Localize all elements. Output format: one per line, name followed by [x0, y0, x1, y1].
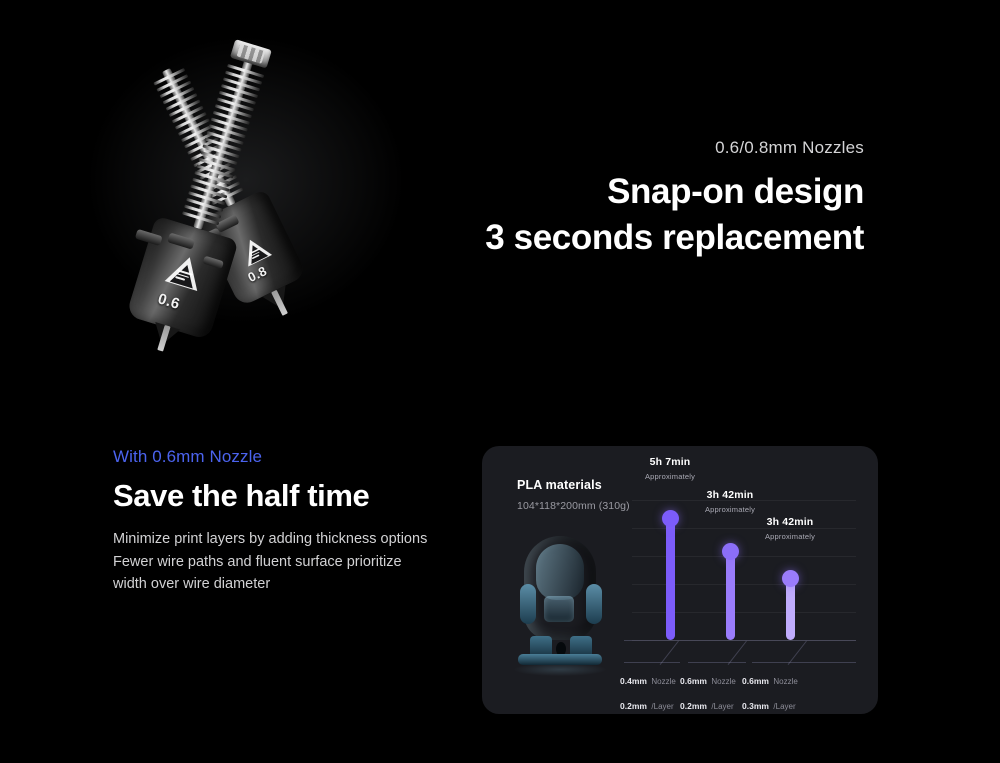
hero-eyebrow: 0.6/0.8mm Nozzles: [485, 138, 864, 158]
figurine-badge: [544, 596, 574, 622]
figurine-arm-right: [586, 584, 602, 624]
layer-value-2: 0.2mm: [680, 701, 707, 711]
chart-bar-cap-3: [782, 570, 799, 587]
hot-surface-icon-0-6: [165, 252, 206, 291]
product-image-nozzles: 0.8: [112, 42, 380, 342]
bar-value-3: 3h 42min: [730, 516, 850, 528]
category-label-3: 0.6mm Nozzle 0.3mm /Layer: [742, 668, 798, 714]
layer-value-3: 0.3mm: [742, 701, 769, 711]
bar-label-1: 5h 7min Approximately: [610, 456, 730, 481]
layer-unit-1: /Layer: [651, 702, 673, 711]
layer-unit-3: /Layer: [773, 702, 795, 711]
feature-body: Minimize print layers by adding thicknes…: [113, 528, 453, 596]
bar-label-2: 3h 42min Approximately: [670, 489, 790, 514]
figurine-visor: [536, 544, 584, 600]
bar-approx-1: Approximately: [610, 472, 730, 481]
chart-plot-area: 5h 7min Approximately 3h 42min Approxima…: [632, 464, 856, 694]
print-time-chart-card: PLA materials 104*118*200mm (310g): [482, 446, 878, 714]
hero-title: Snap-on design 3 seconds replacement: [485, 169, 864, 260]
bar-label-3: 3h 42min Approximately: [730, 516, 850, 541]
category-label-1: 0.4mm Nozzle 0.2mm /Layer: [620, 668, 676, 714]
chart-subtitle: 104*118*200mm (310g): [517, 500, 630, 512]
nozzle-unit-2: Nozzle: [711, 677, 735, 686]
feature-accent-label: With 0.6mm Nozzle: [113, 447, 453, 467]
nozzle-size-label-0-6: 0.6: [156, 290, 182, 313]
nozzle-value-3: 0.6mm: [742, 676, 769, 686]
nozzle-size-label-0-8: 0.8: [245, 263, 269, 285]
category-label-2: 0.6mm Nozzle 0.2mm /Layer: [680, 668, 736, 714]
feature-body-line-1: Minimize print layers by adding thicknes…: [113, 528, 453, 551]
feature-body-line-3: width over wire diameter: [113, 573, 453, 596]
feature-copy: With 0.6mm Nozzle Save the half time Min…: [113, 447, 453, 596]
layer-unit-2: /Layer: [711, 702, 733, 711]
bar-approx-3: Approximately: [730, 532, 850, 541]
nozzle-value-2: 0.6mm: [680, 676, 707, 686]
hero-copy: 0.6/0.8mm Nozzles Snap-on design 3 secon…: [485, 138, 864, 260]
hero-title-line-1: Snap-on design: [485, 169, 864, 215]
nozzle-unit-1: Nozzle: [651, 677, 675, 686]
figurine-arm-left: [520, 584, 536, 624]
feature-body-line-2: Fewer wire paths and fluent surface prio…: [113, 551, 453, 574]
hot-surface-icon-0-8: [238, 234, 272, 267]
bar-value-2: 3h 42min: [670, 489, 790, 501]
category-bracket-4: [752, 641, 862, 663]
feature-heading: Save the half time: [113, 478, 453, 514]
chart-header: PLA materials 104*118*200mm (310g): [517, 478, 630, 512]
layer-value-1: 0.2mm: [620, 701, 647, 711]
hero-title-line-2: 3 seconds replacement: [485, 215, 864, 261]
bar-approx-2: Approximately: [670, 505, 790, 514]
nozzle-value-1: 0.4mm: [620, 676, 647, 686]
chart-bar-1: [666, 516, 675, 640]
bar-value-1: 5h 7min: [610, 456, 730, 468]
lower-section: With 0.6mm Nozzle Save the half time Min…: [0, 430, 1000, 763]
figurine-base: [518, 654, 602, 665]
chart-bar-cap-2: [722, 543, 739, 560]
chart-bar-2: [726, 549, 735, 640]
figurine-model: [506, 530, 616, 670]
nozzle-unit-3: Nozzle: [773, 677, 797, 686]
hero-section: 0.8: [0, 0, 1000, 430]
